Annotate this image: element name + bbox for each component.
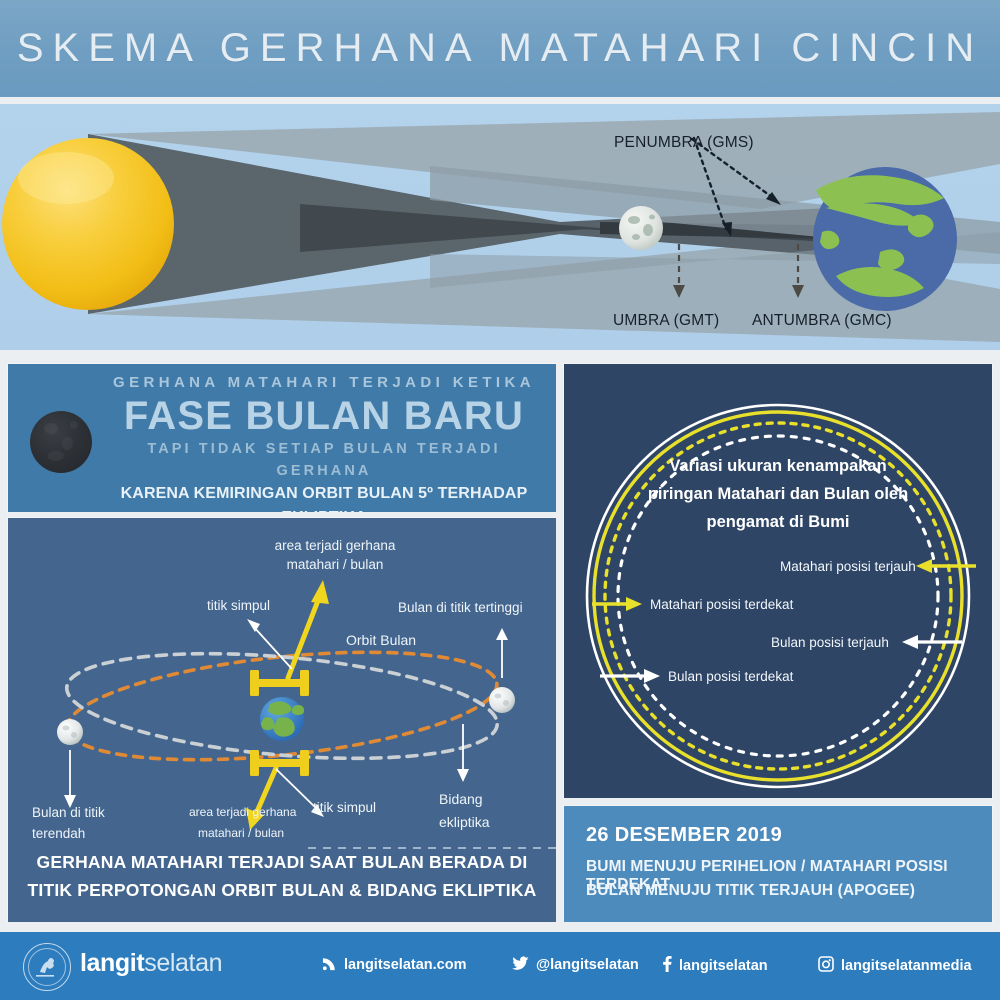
moon-lowest-point — [57, 719, 83, 745]
apparent-size-title: Variasi ukuran kenampakan piringan Matah… — [608, 452, 948, 536]
label-sun-near: Matahari posisi terdekat — [650, 597, 793, 612]
event-detail-2: BULAN MENUJU TITIK TERJAUH (APOGEE) — [586, 882, 915, 900]
divider-footer — [0, 922, 1000, 932]
eclipse-area-arrow-top — [288, 580, 329, 678]
fase-headline: FASE BULAN BARU — [104, 394, 544, 438]
event-date-panel: 26 DESEMBER 2019 BUMI MENUJU PERIHELION … — [564, 806, 992, 922]
label-eclipse-area-top-1: area terjadi gerhana — [270, 536, 400, 555]
infographic-page: SKEMA GERHANA MATAHARI CINCIN — [0, 0, 1000, 1000]
label-moon-highest: Bulan di titik tertinggi — [398, 598, 523, 617]
label-moon-lowest-1: Bulan di titik — [32, 803, 105, 822]
label-node-bottom: titik simpul — [313, 798, 376, 817]
label-orbit-bulan: Orbit Bulan — [346, 631, 416, 650]
label-antumbra: ANTUMBRA (GMC) — [752, 312, 892, 330]
label-penumbra: PENUMBRA (GMS) — [614, 134, 754, 152]
label-eclipse-area-bottom-1: area terjadi gerhana — [189, 803, 296, 822]
event-date: 26 DESEMBER 2019 — [586, 824, 782, 847]
moon-high-arrowhead — [496, 628, 508, 640]
apparent-size-svg — [564, 364, 992, 798]
orbit-footer-line-1: GERHANA MATAHARI TERJADI SAAT BULAN BERA… — [8, 848, 556, 876]
social-website-label: langitselatan.com — [344, 957, 466, 973]
divider-header — [0, 97, 1000, 104]
label-moon-lowest-2: terendah — [32, 824, 85, 843]
brand-wordmark: langitselatan — [80, 949, 222, 978]
apparent-size-title-2: piringan Matahari dan Bulan oleh — [608, 480, 948, 508]
apparent-size-title-3: pengamat di Bumi — [608, 508, 948, 536]
brand-bold: langit — [80, 949, 144, 977]
node-marker-top — [250, 670, 309, 696]
new-moon-icon — [30, 411, 92, 473]
eclipse-diagram: PENUMBRA (GMS) UMBRA (GMT) ANTUMBRA (GMC… — [0, 104, 1000, 350]
label-umbra: UMBRA (GMT) — [613, 312, 719, 330]
rss-icon — [322, 956, 337, 975]
social-instagram[interactable]: langitselatanmedia — [818, 956, 972, 976]
label-moon-near: Bulan posisi terdekat — [668, 669, 793, 684]
apparent-size-title-1: Variasi ukuran kenampakan — [608, 452, 948, 480]
divider-mid — [0, 350, 1000, 364]
footer-bar: langitselatan langitselatan.com @langits… — [0, 932, 1000, 1000]
new-moon-text-block: GERHANA MATAHARI TERJADI KETIKA FASE BUL… — [104, 372, 544, 530]
social-twitter[interactable]: @langitselatan — [512, 956, 639, 975]
label-moon-far: Bulan posisi terjauh — [771, 635, 889, 650]
node-top-leader — [253, 626, 292, 669]
new-moon-phase-panel: GERHANA MATAHARI TERJADI KETIKA FASE BUL… — [8, 364, 556, 512]
instagram-icon — [818, 956, 834, 976]
brand-light: selatan — [144, 949, 222, 977]
orbit-footer-line-2: TITIK PERPOTONGAN ORBIT BULAN & BIDANG E… — [8, 876, 556, 904]
apparent-size-panel: Variasi ukuran kenampakan piringan Matah… — [564, 364, 992, 798]
social-facebook[interactable]: langitselatan — [662, 956, 768, 976]
divider-right-panels — [564, 798, 992, 806]
social-website[interactable]: langitselatan.com — [322, 956, 466, 975]
ecliptic-plane-arrowhead — [457, 769, 469, 782]
label-eclipse-area-bottom-2: matahari / bulan — [198, 824, 284, 843]
langitselatan-seal-logo — [23, 943, 71, 991]
facebook-icon — [662, 956, 672, 976]
page-title: SKEMA GERHANA MATAHARI CINCIN — [0, 26, 1000, 71]
twitter-icon — [512, 956, 529, 975]
sun-highlight — [18, 152, 114, 204]
seal-emblem-icon — [22, 942, 68, 988]
orbit-footer-text: GERHANA MATAHARI TERJADI SAAT BULAN BERA… — [8, 848, 556, 904]
moon-highest-point — [489, 687, 515, 713]
node-top-arrowhead — [247, 619, 260, 632]
label-eclipse-area-top-2: matahari / bulan — [270, 555, 400, 574]
social-instagram-label: langitselatanmedia — [841, 958, 972, 974]
header-bar: SKEMA GERHANA MATAHARI CINCIN — [0, 0, 1000, 97]
lunar-orbit-panel: area terjadi gerhana matahari / bulan ti… — [8, 518, 556, 922]
label-ecliptic-plane-2: ekliptika — [439, 813, 490, 832]
moon-body — [619, 206, 663, 250]
fase-subline: TAPI TIDAK SETIAP BULAN TERJADI GERHANA — [104, 438, 544, 482]
fase-kicker: GERHANA MATAHARI TERJADI KETIKA — [104, 372, 544, 394]
divider-vertical — [556, 364, 564, 922]
label-ecliptic-plane-1: Bidang — [439, 790, 483, 809]
label-sun-far: Matahari posisi terjauh — [780, 559, 916, 574]
social-facebook-label: langitselatan — [679, 958, 768, 974]
social-twitter-label: @langitselatan — [536, 957, 639, 973]
label-node-top: titik simpul — [207, 596, 270, 615]
